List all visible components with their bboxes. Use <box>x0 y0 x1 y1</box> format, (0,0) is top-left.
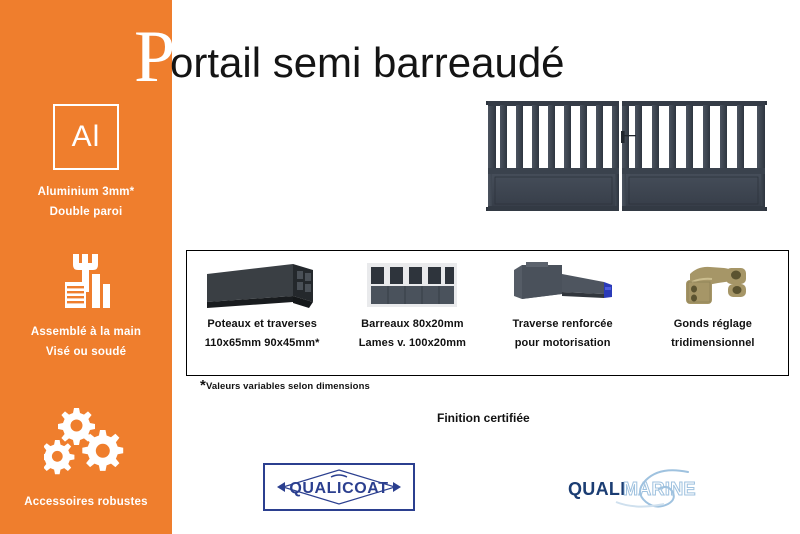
qualimarine-text-b: MARINE <box>623 479 696 499</box>
feature-sublabel: pour motorisation <box>515 334 611 353</box>
sidebar-item-accessories: Accessoires robustes <box>0 404 172 512</box>
feature-label: Traverse renforcée <box>512 315 612 334</box>
sidebar-item-sublabel: Double paroi <box>0 202 172 222</box>
qualicoat-logo-text: QUALICOAT <box>289 480 388 497</box>
qualimarine-text-a: QUALI <box>568 479 626 499</box>
sidebar-item-aluminium: Al Aluminium 3mm* Double paroi <box>0 104 172 222</box>
wrench-tools-icon <box>0 252 172 314</box>
feature-sublabel: 110x65mm 90x45mm* <box>205 334 320 353</box>
aluminium-symbol-text: Al <box>72 122 101 152</box>
sidebar-item-label: Aluminium 3mm* <box>0 182 172 202</box>
gate-illustration <box>472 92 782 215</box>
sidebar-item-sublabel: Visé ou soudé <box>0 342 172 362</box>
aluminium-profile-icon <box>201 257 323 313</box>
sidebar-item-label: Accessoires robustes <box>0 492 172 512</box>
bar-samples-icon <box>364 257 460 313</box>
aluminium-box-icon: Al <box>0 104 172 170</box>
feature-item: Gonds réglage tridimensionnel <box>638 251 788 375</box>
feature-item: Poteaux et traverses 110x65mm 90x45mm* <box>187 251 337 375</box>
feature-sublabel: Lames v. 100x20mm <box>359 334 466 353</box>
page-title-initial: P <box>134 20 175 94</box>
feature-label: Poteaux et traverses <box>207 315 317 334</box>
features-panel: Poteaux et traverses 110x65mm 90x45mm* <box>186 250 789 376</box>
feature-item: Traverse renforcée pour motorisation <box>488 251 638 375</box>
sidebar-item-assembly: Assemblé à la main Visé ou soudé <box>0 252 172 362</box>
gate-left-leaf <box>486 101 619 211</box>
slide-root: Al Aluminium 3mm* Double paroi <box>0 0 800 534</box>
hinge-bracket-icon <box>670 257 756 313</box>
feature-item: Barreaux 80x20mm Lames v. 100x20mm <box>337 251 487 375</box>
gears-icon <box>0 404 172 476</box>
footnote-text: Valeurs variables selon dimensions <box>206 381 370 392</box>
qualimarine-logo: QUALI MARINE <box>560 468 710 510</box>
feature-sublabel: tridimensionnel <box>671 334 754 353</box>
feature-label: Gonds réglage <box>674 315 752 334</box>
certification-heading: Finition certifiée <box>437 411 530 425</box>
feature-label: Barreaux 80x20mm <box>361 315 464 334</box>
reinforced-crossbar-icon <box>504 257 622 313</box>
gate-right-leaf <box>621 101 767 211</box>
page-title-text: ortail semi barreaudé <box>170 40 565 86</box>
footnote: *Valeurs variables selon dimensions <box>200 381 370 392</box>
qualicoat-logo: QUALICOAT <box>263 463 415 511</box>
sidebar-item-label: Assemblé à la main <box>0 322 172 342</box>
